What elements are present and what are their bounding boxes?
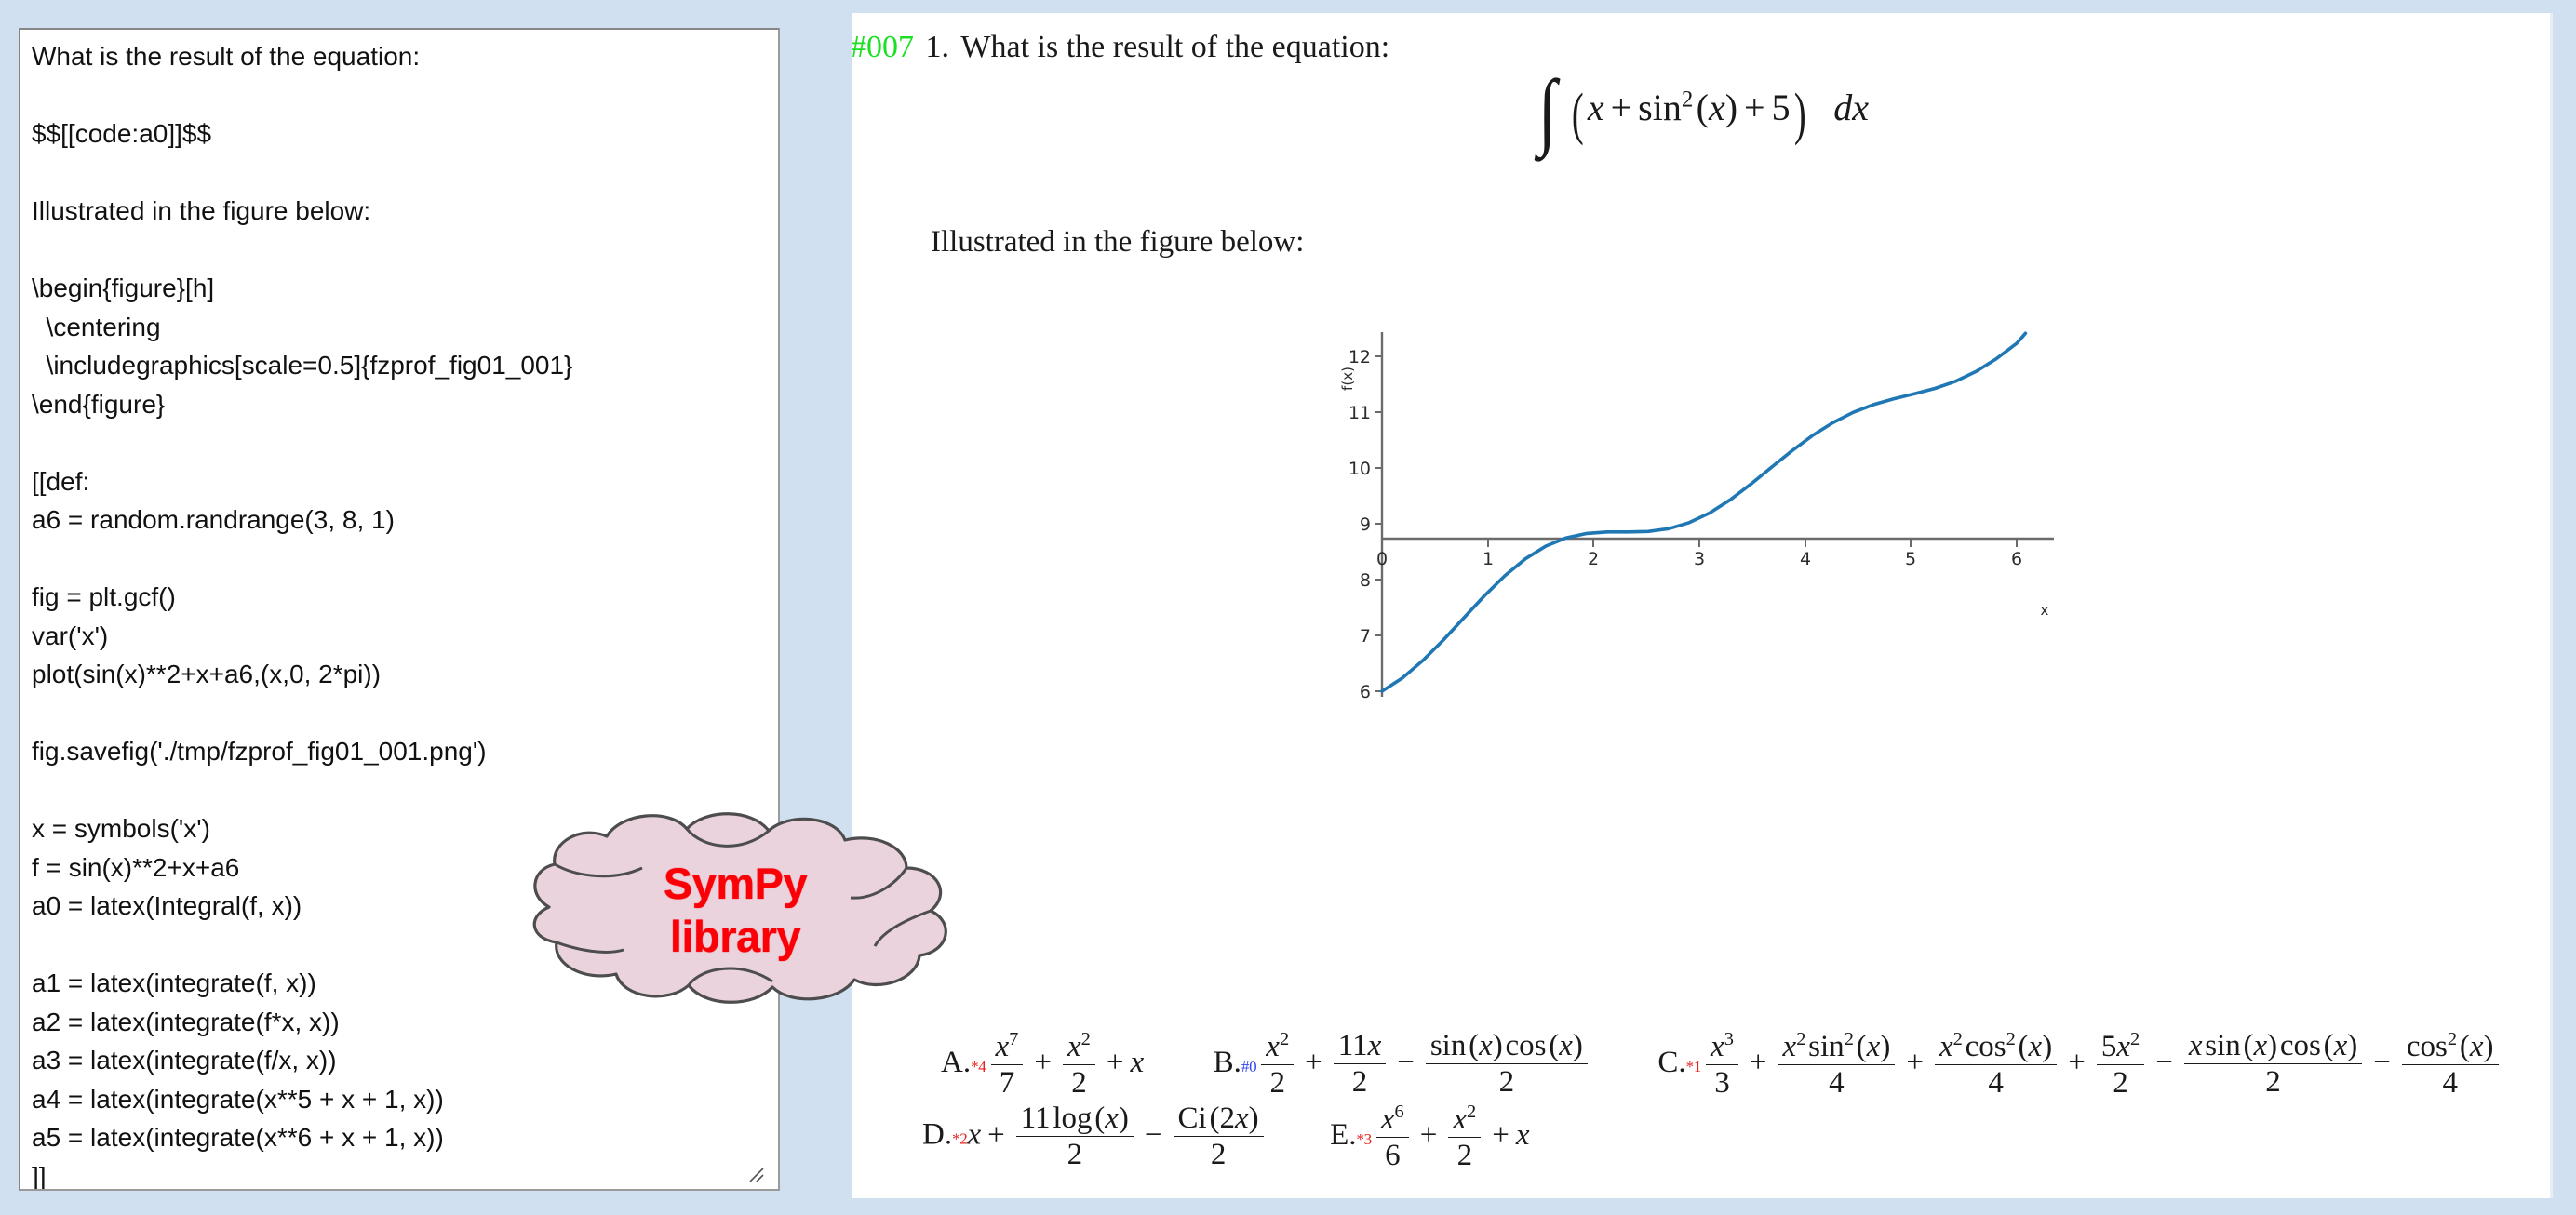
question-heading: #007 1. What is the result of the equati… xyxy=(852,30,2553,76)
integral-sign-icon: ∫ xyxy=(1538,87,1557,134)
choice-B-letter: B. xyxy=(1214,1046,1241,1079)
choice-C[interactable]: C.*1x33+x2 sin2 (x)4+x2 cos2 (x)4+5x22−x… xyxy=(1657,1030,2502,1100)
choice-D-letter: D. xyxy=(922,1118,952,1152)
svg-text:9: 9 xyxy=(1360,514,1371,535)
y-tick-labels: 6 7 8 9 10 11 12 xyxy=(1348,347,1382,702)
svg-text:2: 2 xyxy=(1588,549,1599,569)
svg-text:8: 8 xyxy=(1360,570,1371,591)
choice-C-mark: *1 xyxy=(1686,1058,1701,1075)
choice-A-mark: *4 xyxy=(971,1058,986,1075)
right-paren: ) xyxy=(1794,94,1806,136)
illustration-text: Illustrated in the figure below: xyxy=(931,225,1304,260)
sympy-library-callout: SymPy library xyxy=(493,795,977,1047)
svg-text:5: 5 xyxy=(1905,549,1916,569)
choice-B[interactable]: B.#0x22+11x2−sin (x) cos (x)2 xyxy=(1214,1030,1592,1100)
answer-choices: A.*4x77+x22+x B.#0x22+11x2−sin (x) cos (… xyxy=(852,1030,2553,1179)
svg-text:7: 7 xyxy=(1360,626,1371,647)
callout-line-2: library xyxy=(493,910,977,963)
function-plot-figure: f(x) 6 7 8 9 10 11 12 xyxy=(1317,315,2080,734)
choice-C-letter: C. xyxy=(1657,1046,1685,1079)
callout-line-1: SymPy xyxy=(493,857,977,910)
left-paren: ( xyxy=(1572,94,1584,136)
display-equation: ∫ (x+sin2 (x)+5) dx xyxy=(852,86,2553,135)
question-id-badge: #007 xyxy=(852,30,914,65)
choice-B-mark: #0 xyxy=(1241,1058,1256,1075)
svg-text:10: 10 xyxy=(1348,459,1371,479)
function-curve-smooth xyxy=(1382,333,2025,691)
y-axis-label: f(x) xyxy=(1339,367,1356,391)
question-number: 1. xyxy=(925,30,949,65)
svg-text:3: 3 xyxy=(1694,549,1705,569)
svg-text:4: 4 xyxy=(1800,549,1811,569)
choice-A-letter: A. xyxy=(941,1046,971,1079)
svg-text:11: 11 xyxy=(1348,403,1371,423)
question-text: What is the result of the equation: xyxy=(960,30,1389,65)
choice-E-mark: *3 xyxy=(1356,1130,1371,1148)
rendered-preview-pane: #007 1. What is the result of the equati… xyxy=(852,13,2553,1198)
svg-text:6: 6 xyxy=(2011,549,2022,569)
x-tick-labels: 0 1 2 3 4 5 6 xyxy=(1376,539,2022,569)
svg-text:6: 6 xyxy=(1360,682,1371,702)
svg-text:1: 1 xyxy=(1483,549,1494,569)
x-axis-label: x xyxy=(2041,602,2049,619)
choice-D[interactable]: D.*2x+11 log (x)2−Ci (2x)2 xyxy=(922,1102,1268,1171)
svg-text:12: 12 xyxy=(1348,347,1371,367)
choice-E[interactable]: E.*3x66+x22+x xyxy=(1330,1102,1529,1172)
choice-D-mark: *2 xyxy=(952,1130,967,1148)
choice-E-letter: E. xyxy=(1330,1118,1356,1152)
svg-text:0: 0 xyxy=(1376,549,1388,569)
